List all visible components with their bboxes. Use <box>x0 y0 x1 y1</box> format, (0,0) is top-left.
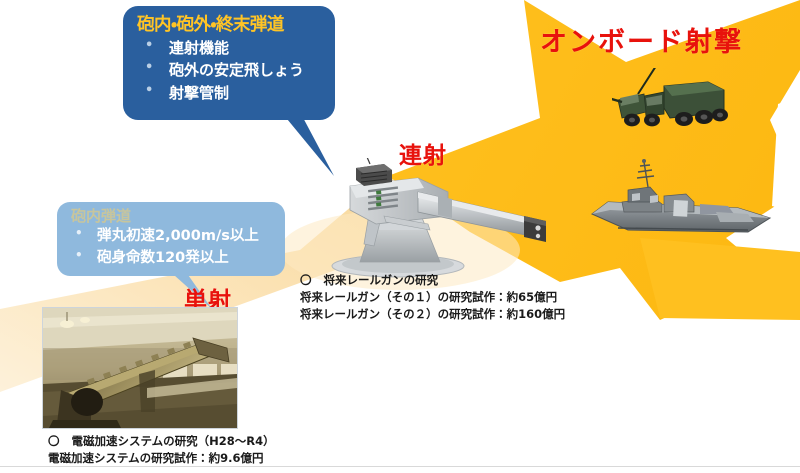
callout-internal-ballistics-list: 弾丸初速2,000m/s以上 砲身命数120発以上 <box>57 226 285 269</box>
callout-internal-ballistics[interactable]: 砲内弾道 弾丸初速2,000m/s以上 砲身命数120発以上 <box>57 202 285 276</box>
caption-em-system-research: 〇 電磁加速システムの研究（H28〜R4） 電磁加速システムの研究試作：約9.6… <box>48 433 275 467</box>
destroyer-illustration <box>588 156 778 248</box>
callout-internal-ballistics-item-0: 弾丸初速2,000m/s以上 <box>75 226 285 247</box>
callout-ballistics-list: 連射機能 砲外の安定飛しょう 射撃管制 <box>123 38 335 104</box>
caption-railgun-line-0: 将来レールガン（その１）の研究試作：約65億円 <box>300 289 565 305</box>
label-onboard-firing: オンボード射撃 <box>540 20 743 59</box>
page-bottom-rule <box>0 466 800 467</box>
caption-em-line-0: 電磁加速システムの研究試作：約9.6億円 <box>48 450 275 466</box>
caption-railgun-marker: 〇 <box>300 273 312 287</box>
slide-canvas: 砲内・砲外・終末弾道 連射機能 砲外の安定飛しょう 射撃管制 砲内弾道 弾丸初速… <box>0 0 800 473</box>
caption-railgun-heading: 将来レールガンの研究 <box>324 273 439 287</box>
caption-em-heading: 電磁加速システムの研究（H28〜R4） <box>72 434 275 448</box>
military-truck-illustration <box>612 68 732 144</box>
callout-internal-ballistics-item-1: 砲身命数120発以上 <box>75 248 285 269</box>
callout-ballistics-item-2: 射撃管制 <box>145 83 335 104</box>
callout-ballistics-item-1: 砲外の安定飛しょう <box>145 60 335 81</box>
callout-internal-ballistics-title: 砲内弾道 <box>71 205 285 226</box>
caption-railgun-heading-row: 〇 将来レールガンの研究 <box>300 272 565 288</box>
caption-em-heading-row: 〇 電磁加速システムの研究（H28〜R4） <box>48 433 275 449</box>
callout-ballistics-item-0: 連射機能 <box>145 38 335 59</box>
beam-notch-white <box>336 0 520 150</box>
caption-railgun-line-1: 将来レールガン（その２）の研究試作：約160億円 <box>300 306 565 322</box>
beam-gold-tongue <box>640 238 800 320</box>
railgun-turret-illustration <box>298 158 548 278</box>
callout-ballistics[interactable]: 砲内・砲外・終末弾道 連射機能 砲外の安定飛しょう 射撃管制 <box>123 6 335 120</box>
railgun-prototype-photo <box>42 307 238 429</box>
caption-em-marker: 〇 <box>48 434 60 448</box>
caption-railgun-research: 〇 将来レールガンの研究 将来レールガン（その１）の研究試作：約65億円 将来レ… <box>300 272 565 322</box>
label-rapid-fire: 連射 <box>399 136 447 170</box>
callout-ballistics-title: 砲内・砲外・終末弾道 <box>137 11 335 36</box>
